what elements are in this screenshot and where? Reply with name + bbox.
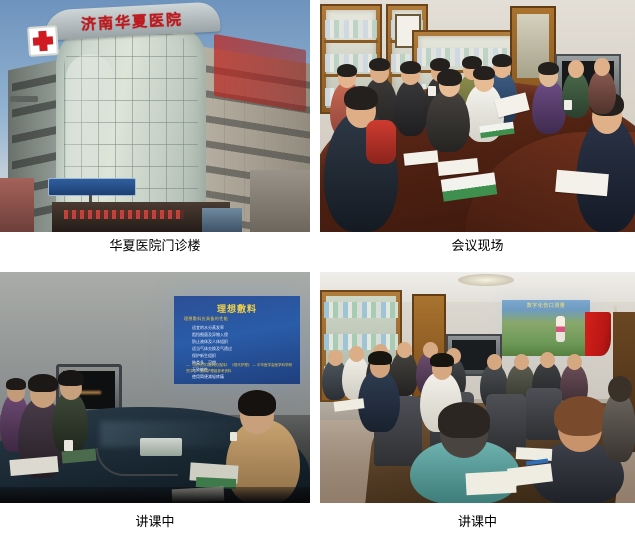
attendee-front xyxy=(426,90,470,152)
attendee-hair xyxy=(473,66,495,80)
attendee-head xyxy=(514,354,529,370)
photo-hospital-building: 济南华夏医院 xyxy=(0,0,310,232)
attendee-hair xyxy=(58,370,84,386)
ground-floor-podium xyxy=(52,202,230,232)
cable-bundle xyxy=(96,448,178,476)
hospital-name-signage: 济南华夏医院 xyxy=(44,6,221,36)
led-scroll-banner xyxy=(64,210,184,219)
shelf-books xyxy=(325,20,377,38)
attendee-hair xyxy=(538,62,559,75)
gallery-cell-meeting: 会议现场 xyxy=(320,0,635,255)
attendee-head xyxy=(397,342,412,358)
attendee xyxy=(532,80,566,134)
paper-cup xyxy=(230,432,237,441)
attendee-hair xyxy=(430,353,454,367)
attendee-head xyxy=(349,346,364,362)
attendee-hair xyxy=(369,58,390,71)
attendee-head xyxy=(568,60,584,78)
projection-screen: 数字化伤口测量 xyxy=(502,300,590,356)
caption-lecture-audience: 讲课中 xyxy=(320,503,635,531)
attendee xyxy=(562,72,590,118)
attendee-head xyxy=(540,352,555,368)
caption-meeting: 会议现场 xyxy=(320,232,635,255)
cabinet-shelf xyxy=(324,40,378,43)
paper-cup xyxy=(564,100,572,110)
attendee xyxy=(394,80,428,136)
attendee-head xyxy=(487,354,502,370)
slide-photo-subject xyxy=(556,316,565,342)
attendee-hair xyxy=(6,378,26,390)
attendee xyxy=(588,70,616,114)
red-jacket-attendee xyxy=(366,120,396,164)
document-on-table xyxy=(555,170,609,196)
ceiling-light xyxy=(458,274,514,286)
slide-bullet: 使用简便减轻疼痛 xyxy=(192,373,290,380)
caption-lecture-projection: 讲课中 xyxy=(0,503,310,531)
entrance-door xyxy=(202,208,242,232)
projection-screen: 理想敷料 理想敷料应具备的性能 适宜的水分蒸发率 阻挡细菌及异物入侵 防止液体及… xyxy=(174,296,300,384)
slide-bullet: 阻挡细菌及异物入侵 xyxy=(192,331,290,338)
background-building xyxy=(250,170,310,232)
attendee xyxy=(358,370,400,432)
slide-footnote: — 《现代伤口敷料的选择》 《现代护理》 — 中华医学会医学科学研究中心 · 创… xyxy=(186,362,292,374)
photo-meeting-room xyxy=(320,0,635,232)
slide-title: 数字化伤口测量 xyxy=(502,302,590,309)
attendee-hair xyxy=(437,69,462,86)
attendee-hair xyxy=(344,86,378,110)
red-cross-icon xyxy=(27,25,59,57)
gallery-cell-lecture-audience: 数字化伤口测量 xyxy=(320,272,635,531)
gallery-cell-lecture-projection: 理想敷料 理想敷料应具备的性能 适宜的水分蒸发率 阻挡细菌及异物入侵 防止液体及… xyxy=(0,272,310,531)
street-name-sign xyxy=(48,178,136,196)
attendee-head xyxy=(328,350,343,366)
photo-lecture-audience: 数字化伤口测量 xyxy=(320,272,635,503)
attendee-hair xyxy=(438,402,490,438)
paper-cup xyxy=(64,440,73,451)
document-on-table xyxy=(465,471,516,496)
slide-subtitle: 理想敷料应具备的性能 xyxy=(184,316,228,322)
slide-title: 理想敷料 xyxy=(174,302,300,315)
building-glass-tower xyxy=(56,24,206,232)
slide-bullet: 适宜的水分蒸发率 xyxy=(192,324,290,331)
foreground-shadow xyxy=(0,487,310,503)
attendee-hair xyxy=(28,374,58,392)
chinese-flag xyxy=(585,312,611,356)
shelf-books xyxy=(324,302,398,318)
slide-bullet: 保护新生组织 xyxy=(192,352,290,359)
attendee xyxy=(602,392,635,462)
slide-bullet: 防止液体及人体组织 xyxy=(192,338,290,345)
photo-gallery: 济南华夏医院 华夏医院门诊楼 xyxy=(0,0,635,538)
attendee-hair xyxy=(554,396,608,436)
attendee-head xyxy=(608,376,632,402)
attendee-head xyxy=(594,58,610,76)
attendee-hair xyxy=(400,61,421,74)
paper-cup xyxy=(428,86,436,96)
slide-bullet: 适当气体交换及气透过 xyxy=(192,345,290,352)
attendee-hair xyxy=(368,351,392,365)
attendee-hair xyxy=(238,390,276,416)
attendee-hair xyxy=(337,64,357,77)
adjacent-low-building xyxy=(0,178,34,232)
street-lamp-arm xyxy=(10,96,38,102)
attendee-head xyxy=(567,354,582,370)
gallery-cell-building: 济南华夏医院 华夏医院门诊楼 xyxy=(0,0,310,255)
caption-building: 华夏医院门诊楼 xyxy=(0,232,310,255)
photo-lecture-projection: 理想敷料 理想敷料应具备的性能 适宜的水分蒸发率 阻挡细菌及异物入侵 防止液体及… xyxy=(0,272,310,503)
attendee-hair xyxy=(492,54,512,67)
